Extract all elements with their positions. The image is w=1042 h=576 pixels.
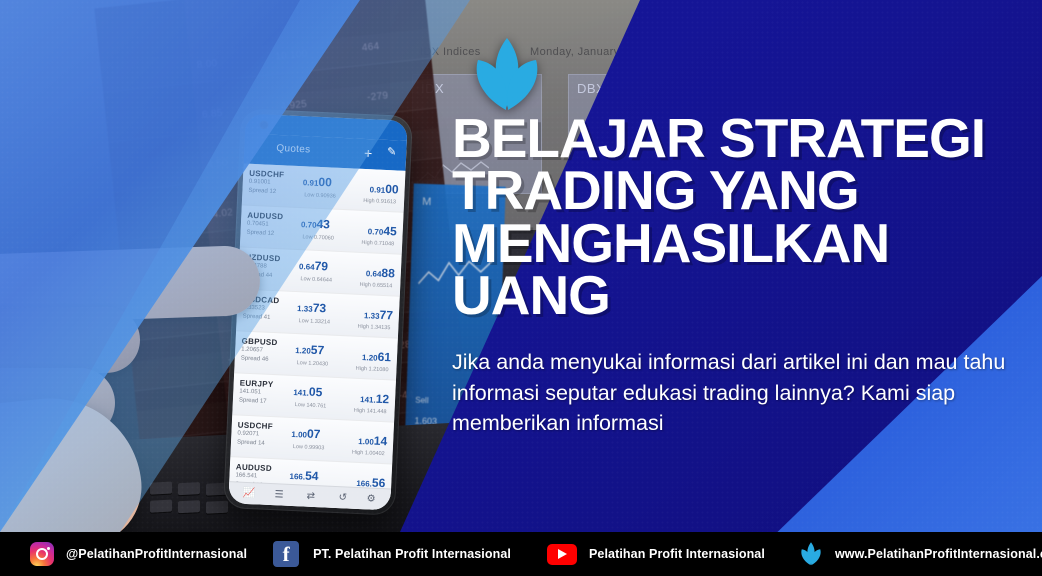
blue-panel-label-m: M: [422, 196, 432, 208]
history-icon[interactable]: ↺: [338, 492, 347, 503]
youtube-channel-name: Pelatihan Profit Internasional: [589, 547, 765, 561]
quote-low: Low 0.64644: [300, 276, 332, 283]
quote-bid: 1.0007: [291, 426, 321, 441]
quote-bid: 1.1558: [287, 510, 317, 511]
quote-bid: 0.6479: [299, 258, 329, 273]
quote-high: High 0.91613: [363, 198, 396, 205]
facebook-icon[interactable]: f: [273, 541, 299, 567]
quote-low: Low 140.761: [295, 402, 327, 409]
settings-icon[interactable]: ⚙: [366, 493, 375, 504]
subtitle-text: Jika anda menyukai informasi dari artike…: [452, 347, 1022, 439]
quote-high: High 141.448: [354, 408, 387, 415]
quote-ask: 1.3377: [364, 307, 394, 322]
quote-ask: 0.9100: [369, 181, 399, 196]
website-lotus-icon[interactable]: [797, 540, 825, 568]
footer-item-instagram[interactable]: @PelatihanProfitInternasional: [30, 542, 247, 566]
quote-low: Low 0.99903: [293, 444, 325, 451]
quote-high: High 0.71048: [361, 240, 394, 247]
quote-bid: 166.54: [289, 468, 319, 483]
quote-ask: 0.7045: [368, 223, 398, 238]
footer-item-website[interactable]: www.PelatihanProfitInternasional.com: [797, 540, 1042, 568]
trade-icon[interactable]: ⇄: [306, 491, 315, 502]
quote-high: High 1.00402: [352, 450, 385, 457]
quote-ask: 1.0014: [358, 433, 388, 448]
quote-ask: 0.6488: [366, 265, 396, 280]
quote-low: Low 1.20430: [297, 360, 329, 367]
pencil-icon[interactable]: ✎: [387, 147, 397, 158]
instagram-icon[interactable]: [30, 542, 54, 566]
lotus-logo: [463, 34, 551, 116]
quote-bid: 1.3373: [297, 300, 327, 315]
social-footer-bar: @PelatihanProfitInternasional f PT. Pela…: [0, 532, 1042, 576]
quote-ask: 141.12: [360, 391, 390, 406]
promotional-banner: IDX Indices Monday, January 30, 15:15 Ja…: [0, 0, 1042, 576]
quote-bid: 1.2057: [295, 342, 325, 357]
instagram-handle: @PelatihanProfitInternasional: [66, 547, 247, 561]
quote-low: Low 1.33214: [298, 318, 330, 325]
footer-item-facebook[interactable]: f PT. Pelatihan Profit Internasional: [273, 541, 511, 567]
quote-high: High 0.65514: [359, 282, 392, 289]
facebook-page-name: PT. Pelatihan Profit Internasional: [313, 547, 511, 561]
youtube-icon[interactable]: [547, 544, 577, 565]
website-url: www.PelatihanProfitInternasional.com: [835, 547, 1042, 561]
footer-item-youtube[interactable]: Pelatihan Profit Internasional: [547, 544, 765, 565]
quote-high: High 1.34135: [357, 324, 390, 331]
quote-bid: 141.05: [293, 384, 323, 399]
page-title: BELAJAR STRATEGI TRADING YANG MENGHASILK…: [452, 112, 1032, 321]
quote-ask: 1.2061: [362, 349, 392, 364]
quote-high: High 1.21080: [356, 366, 389, 373]
blue-panel-sell-label: Sell: [415, 396, 429, 405]
